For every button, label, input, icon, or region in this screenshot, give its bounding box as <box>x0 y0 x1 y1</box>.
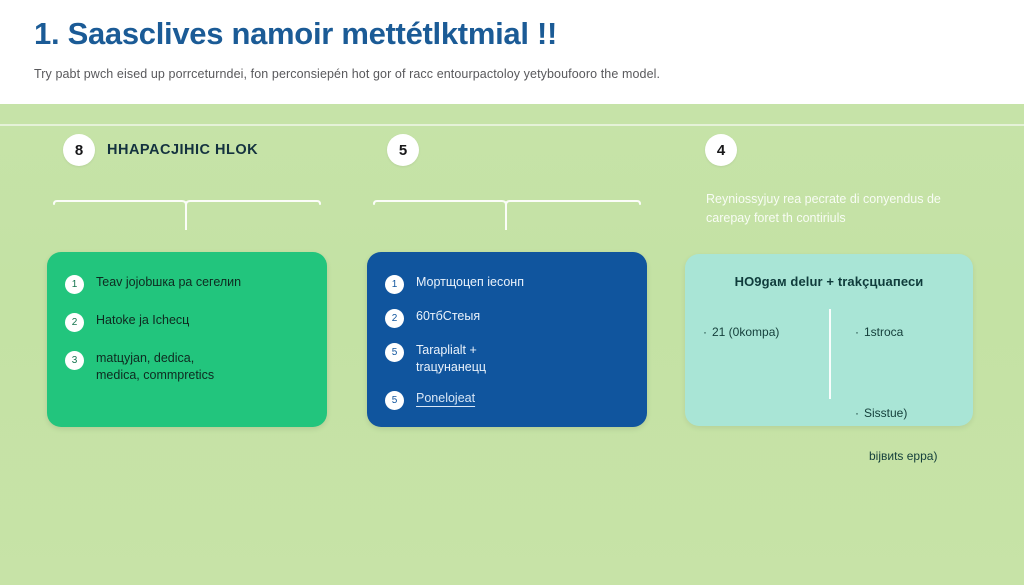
list-item[interactable]: 1 Teav jojobшка pa сегелиn <box>65 274 309 294</box>
body-divider-line <box>0 124 1024 126</box>
item-number-badge: 3 <box>65 351 84 370</box>
brace-connector-2 <box>372 200 642 232</box>
mint-column-left: ·21 (0kompa) <box>703 307 829 403</box>
item-label: 60тбСтеыя <box>416 308 480 325</box>
brace-connector-1 <box>52 200 322 232</box>
list-item[interactable]: 5 Taraplialt + traцyнaнeцц <box>385 342 629 376</box>
item-label: Teav jojobшка pa сегелиn <box>96 274 241 291</box>
mint-list-item: ·Sisstue) <box>855 388 945 423</box>
item-number-badge: 2 <box>385 309 404 328</box>
item-number-badge: 2 <box>65 313 84 332</box>
item-number-badge: 5 <box>385 391 404 410</box>
column-badge-1: 8 <box>63 134 95 166</box>
item-number-badge: 1 <box>385 275 404 294</box>
mint-item-label: 21 (0kompa) <box>712 325 779 339</box>
card-green[interactable]: 1 Teav jojobшка pa сегелиn 2 Hatoke ja I… <box>47 252 327 427</box>
mint-column-right: ·1strocа ·Sisstue) bijвиts eppa) <box>829 307 955 403</box>
column-heading-3: 4 <box>705 134 749 166</box>
mint-item-label: bijвиts eppa) <box>869 449 937 463</box>
card-mint-columns: ·21 (0kompa) ·1strocа ·Sisstue) bijвиts … <box>703 307 955 403</box>
column-heading-1: 8 HHAPACJIHIC HLOK <box>63 134 258 166</box>
mint-list-item: ·1strocа <box>855 307 945 342</box>
card-blue[interactable]: 1 Мортщоцеп iесонп 2 60тбСтеыя 5 Tarapli… <box>367 252 647 427</box>
item-label: matцyjan, dedica, medica, commpretics <box>96 350 214 384</box>
mint-item-label: 1strocа <box>864 325 903 339</box>
item-number-badge: 5 <box>385 343 404 362</box>
page-title: 1. Saasclives namoir mettétlktmial !! <box>34 16 990 52</box>
list-item-link[interactable]: 5 Ponelоjеat <box>385 390 629 410</box>
slide-header: 1. Saasclives namoir mettétlktmial !! Tr… <box>0 0 1024 104</box>
item-label: Мортщоцеп iесонп <box>416 274 524 291</box>
list-item[interactable]: 1 Мортщоцеп iесонп <box>385 274 629 294</box>
list-item[interactable]: 2 60тбСтеыя <box>385 308 629 328</box>
mint-item-label: Sisstue) <box>864 406 907 420</box>
bullet-dot-icon: · <box>855 406 859 420</box>
item-number-badge: 1 <box>65 275 84 294</box>
list-item[interactable]: 2 Hatoke ja Ichесц <box>65 312 309 332</box>
column-note-3: Reyniossyjuy rea pecrate di conyendus de… <box>706 190 976 229</box>
card-mint-title: HO9gaм delur + trakçцuапеси <box>703 274 955 289</box>
page-subtitle: Try pabt pwch eised up porrceturndei, fo… <box>34 66 990 82</box>
mint-list-item: ·21 (0kompa) <box>703 307 819 342</box>
mint-list-subitem: bijвиts eppa) <box>855 431 945 466</box>
item-label: Hatoke ja Ichесц <box>96 312 189 329</box>
list-item[interactable]: 3 matцyjan, dedica, medica, commpretics <box>65 350 309 384</box>
bullet-dot-icon: · <box>855 325 859 339</box>
item-label: Taraplialt + traцyнaнeцц <box>416 342 486 376</box>
layout-spacer <box>855 350 945 388</box>
column-label-1: HHAPACJIHIC HLOK <box>107 142 258 158</box>
column-badge-3: 4 <box>705 134 737 166</box>
vertical-divider <box>829 309 831 399</box>
bullet-dot-icon: · <box>703 325 707 339</box>
item-link-label[interactable]: Ponelоjеat <box>416 390 624 407</box>
card-mint[interactable]: HO9gaм delur + trakçцuапеси ·21 (0kompa)… <box>685 254 973 426</box>
slide-canvas: 1. Saasclives namoir mettétlktmial !! Tr… <box>0 0 1024 585</box>
column-heading-2: 5 <box>387 134 431 166</box>
column-badge-2: 5 <box>387 134 419 166</box>
